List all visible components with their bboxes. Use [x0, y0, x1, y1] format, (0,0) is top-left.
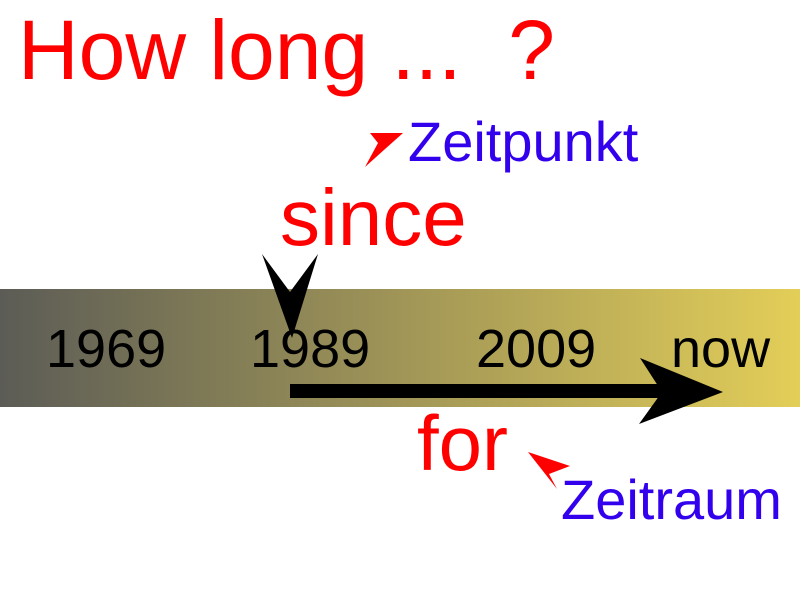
- label-zeitraum: Zeitraum: [561, 472, 782, 528]
- timeline-year-2009: 2009: [476, 322, 596, 376]
- slide-canvas: 1969 1989 2009 now How long ... ? Zeitpu…: [0, 0, 800, 600]
- page-title: How long ... ?: [18, 8, 555, 92]
- timeline-year-1989: 1989: [250, 322, 370, 376]
- timeline-label-now: now: [671, 322, 770, 376]
- label-zeitpunkt: Zeitpunkt: [408, 114, 638, 170]
- zeitpunkt-pointer-icon: [365, 133, 403, 167]
- preposition-since: since: [280, 178, 467, 258]
- preposition-for: for: [417, 404, 508, 482]
- timeline-year-1969: 1969: [46, 322, 166, 376]
